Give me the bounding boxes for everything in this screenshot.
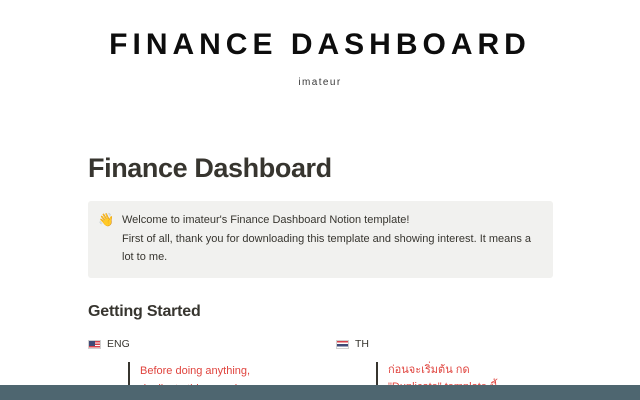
page-title: Finance Dashboard [88,152,553,184]
cover-subtitle: imateur [298,77,341,88]
welcome-callout-text: Welcome to imateur's Finance Dashboard N… [122,211,539,266]
page-cover-header: FINANCE DASHBOARD imateur [0,0,640,120]
us-flag-icon [88,340,101,349]
page-content: Finance Dashboard 👋 Welcome to imateur's… [88,152,553,400]
language-label-eng: ENG [88,337,320,351]
welcome-callout-line-1: Welcome to imateur's Finance Dashboard N… [122,211,539,229]
language-label-th-text: TH [355,337,369,351]
getting-started-heading: Getting Started [88,302,553,323]
waving-hand-emoji: 👋 [98,211,114,229]
bottom-bar [0,385,640,400]
cover-title: FINANCE DASHBOARD [109,30,531,60]
th-flag-icon [336,340,349,349]
notion-page: FINANCE DASHBOARD imateur Finance Dashbo… [0,0,640,400]
language-label-th: TH [336,337,552,351]
welcome-callout-line-2: First of all, thank you for downloading … [122,230,539,266]
welcome-callout: 👋 Welcome to imateur's Finance Dashboard… [88,201,553,278]
language-label-eng-text: ENG [107,337,130,351]
